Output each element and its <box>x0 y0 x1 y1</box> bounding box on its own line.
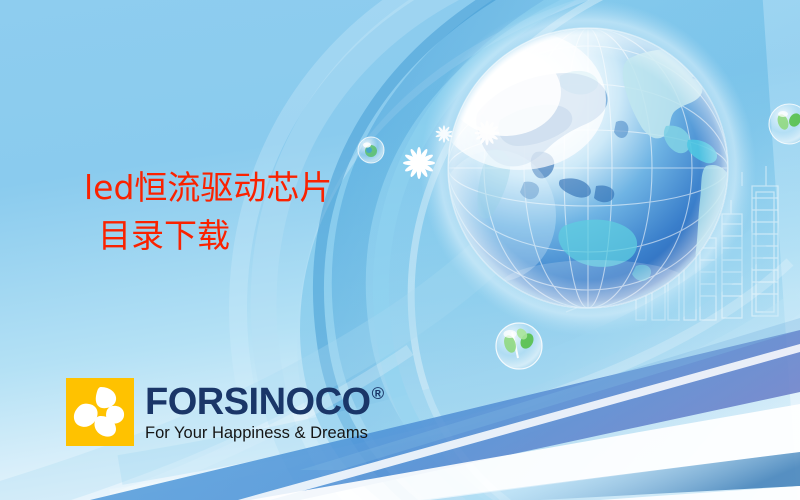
forsinoco-flower-mark-icon <box>66 378 134 446</box>
bubble-globe-small <box>358 137 384 163</box>
logo-wordmark-text: FORSINOCO <box>145 383 371 421</box>
company-logo: FORSINOCO ® For Your Happiness & Dreams <box>66 378 384 446</box>
logo-wordmark: FORSINOCO ® <box>145 383 384 421</box>
logo-text-block: FORSINOCO ® For Your Happiness & Dreams <box>145 383 384 442</box>
logo-tagline: For Your Happiness & Dreams <box>145 425 384 442</box>
bubble-leaf-large <box>496 323 542 369</box>
banner-canvas: led恒流驱动芯片 目录下载 FORSINOCO ® For Your Happ… <box>0 0 800 500</box>
registered-trademark-icon: ® <box>372 385 384 402</box>
